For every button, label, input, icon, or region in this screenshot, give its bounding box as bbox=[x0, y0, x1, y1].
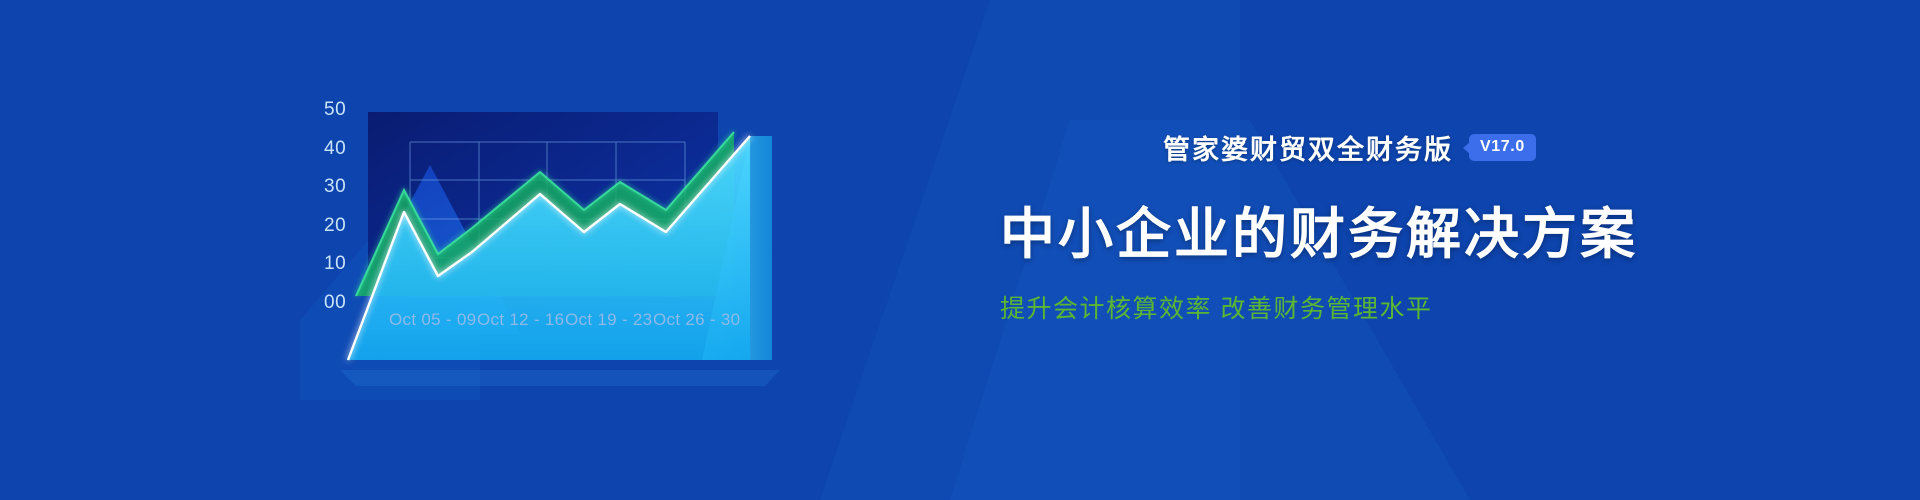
y-tick-label: 00 bbox=[324, 292, 346, 313]
y-tick-label: 30 bbox=[324, 176, 346, 197]
y-tick-label: 20 bbox=[324, 215, 346, 236]
subheadline: 提升会计核算效率 改善财务管理水平 bbox=[1000, 289, 1760, 325]
y-tick-label: 10 bbox=[324, 253, 346, 274]
promo-banner: 50 40 30 20 10 00 Oct 05 - 09 Oct 12 - 1… bbox=[0, 0, 1920, 500]
x-tick-label: Oct 12 - 16 bbox=[477, 310, 564, 329]
product-eyebrow-row: 管家婆财贸双全财务版 V17.0 bbox=[1000, 128, 1760, 167]
chart-y-axis: 50 40 30 20 10 00 bbox=[324, 99, 346, 313]
x-tick-label: Oct 26 - 30 bbox=[653, 310, 740, 329]
hero-chart: 50 40 30 20 10 00 Oct 05 - 09 Oct 12 - 1… bbox=[310, 70, 950, 390]
x-tick-label: Oct 19 - 23 bbox=[565, 310, 652, 329]
chart-canvas: 50 40 30 20 10 00 Oct 05 - 09 Oct 12 - 1… bbox=[310, 70, 950, 390]
product-name: 管家婆财贸双全财务版 bbox=[1163, 128, 1453, 167]
y-tick-label: 50 bbox=[324, 99, 346, 120]
headline: 中小企业的财务解决方案 bbox=[1000, 189, 1760, 269]
banner-copy: 管家婆财贸双全财务版 V17.0 中小企业的财务解决方案 提升会计核算效率 改善… bbox=[1000, 128, 1760, 325]
chart-x-axis: Oct 05 - 09 Oct 12 - 16 Oct 19 - 23 Oct … bbox=[389, 310, 740, 329]
version-badge: V17.0 bbox=[1469, 134, 1536, 161]
y-tick-label: 40 bbox=[324, 138, 346, 159]
chart-ground-reflection bbox=[340, 370, 780, 386]
x-tick-label: Oct 05 - 09 bbox=[389, 310, 476, 329]
